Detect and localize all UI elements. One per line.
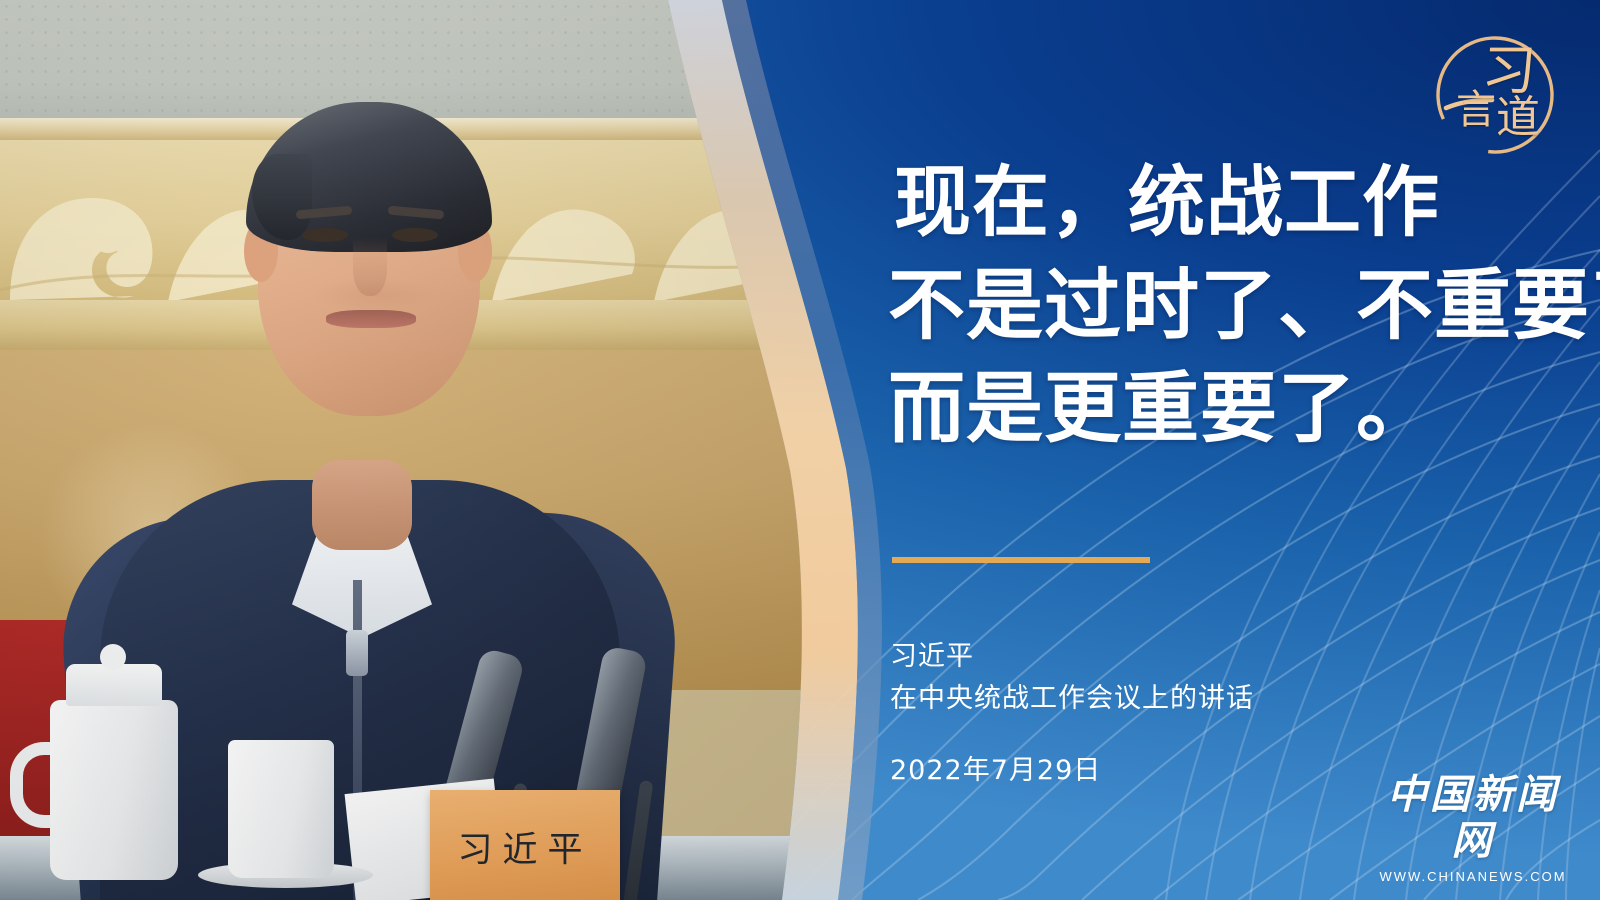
attribution-date: 2022年7月29日 [890, 750, 1254, 792]
brand-name-cn: 中国新闻网 [1366, 772, 1580, 864]
gold-divider [892, 557, 1150, 563]
photo-cup [228, 740, 334, 878]
poster-root: 习近平 习 言 [0, 0, 1600, 900]
xi-yan-dao-emblem: 习 言 道 [1430, 30, 1560, 160]
attribution-block: 习近平 在中央统战工作会议上的讲话 2022年7月29日 [890, 636, 1254, 792]
attribution-speaker: 习近平 [890, 636, 1254, 678]
quote-line-3: 而是更重要了。 [888, 358, 1528, 461]
seal-char-dao: 道 [1496, 96, 1540, 140]
quote-block: 现在，统战工作 不是过时了、不重要了， 而是更重要了。 [888, 152, 1528, 461]
brand-url: WWW.CHINANEWS.COM [1366, 869, 1580, 884]
quote-line-1: 现在，统战工作 [894, 152, 1528, 255]
attribution-occasion: 在中央统战工作会议上的讲话 [890, 678, 1254, 720]
photo-lidded-mug [50, 700, 178, 880]
quote-line-2: 不是过时了、不重要了， [888, 255, 1528, 358]
photo-nameplate: 习近平 [430, 790, 620, 900]
seal-char-yan: 言 [1456, 90, 1496, 130]
photo-nameplate-text: 习近平 [457, 822, 592, 873]
chinanews-logo[interactable]: 中国新闻网 WWW.CHINANEWS.COM [1366, 772, 1580, 884]
